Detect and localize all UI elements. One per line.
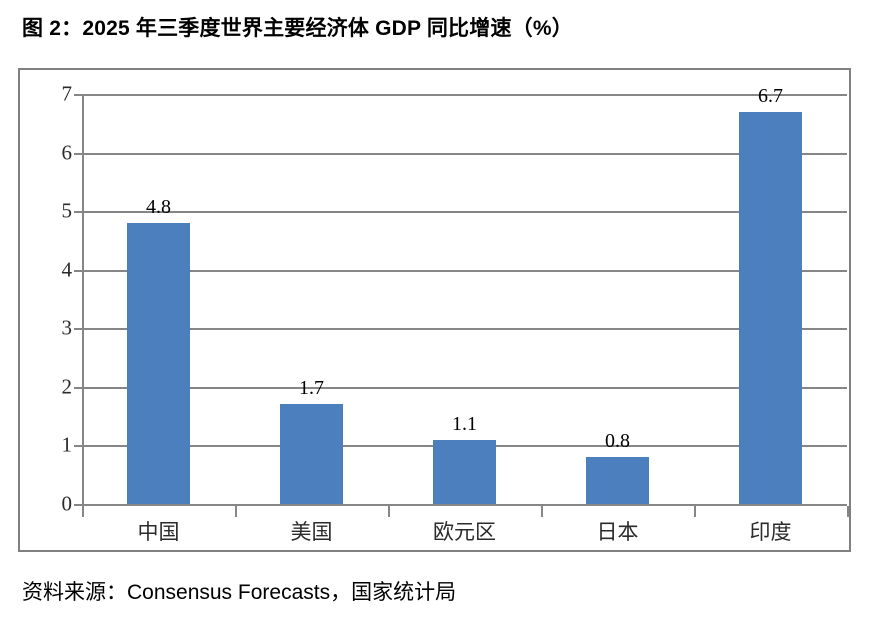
gridline-0 [82, 504, 847, 506]
category-label-日本: 日本 [597, 522, 639, 543]
bar-中国[interactable] [127, 223, 190, 504]
y-tick-mark-2 [74, 387, 82, 389]
y-tick-mark-0 [74, 504, 82, 506]
bars-layer [82, 94, 847, 504]
y-tick-label-2: 2 [62, 376, 73, 397]
y-tick-mark-1 [74, 445, 82, 447]
y-tick-mark-7 [74, 94, 82, 96]
x-tick-2 [388, 506, 390, 517]
y-tick-label-4: 4 [62, 259, 73, 280]
y-tick-label-1: 1 [62, 435, 73, 456]
x-tick-edge-0 [82, 506, 84, 517]
y-tick-label-3: 3 [62, 318, 73, 339]
y-tick-mark-4 [74, 270, 82, 272]
data-label-印度: 6.7 [758, 86, 783, 106]
y-tick-label-6: 6 [62, 142, 73, 163]
y-tick-mark-6 [74, 153, 82, 155]
y-tick-label-7: 7 [62, 84, 73, 105]
bar-日本[interactable] [586, 457, 649, 504]
category-label-美国: 美国 [291, 522, 333, 543]
category-label-中国: 中国 [138, 522, 180, 543]
y-tick-mark-5 [74, 211, 82, 213]
x-axis-category-labels: 中国美国欧元区日本印度 [82, 522, 847, 556]
x-tick-1 [235, 506, 237, 517]
x-tick-4 [694, 506, 696, 517]
source-note: 资料来源：Consensus Forecasts，国家统计局 [22, 576, 456, 606]
data-label-欧元区: 1.1 [452, 414, 477, 434]
figure-title: 图 2：2025 年三季度世界主要经济体 GDP 同比增速（%） [22, 12, 573, 42]
x-tick-edge-5 [847, 506, 849, 517]
data-label-日本: 0.8 [605, 431, 630, 451]
category-label-欧元区: 欧元区 [433, 522, 496, 543]
data-label-美国: 1.7 [299, 378, 324, 398]
y-tick-label-5: 5 [62, 201, 73, 222]
category-label-印度: 印度 [750, 522, 792, 543]
bar-印度[interactable] [739, 112, 802, 504]
y-axis-tick-labels: 01234567 [20, 94, 72, 504]
y-tick-mark-3 [74, 328, 82, 330]
bar-欧元区[interactable] [433, 440, 496, 504]
chart-frame: 01234567 中国美国欧元区日本印度 4.81.71.10.86.7 [18, 68, 851, 552]
x-tick-3 [541, 506, 543, 517]
data-label-中国: 4.8 [146, 197, 171, 217]
y-tick-label-0: 0 [62, 494, 73, 515]
bar-美国[interactable] [280, 404, 343, 504]
